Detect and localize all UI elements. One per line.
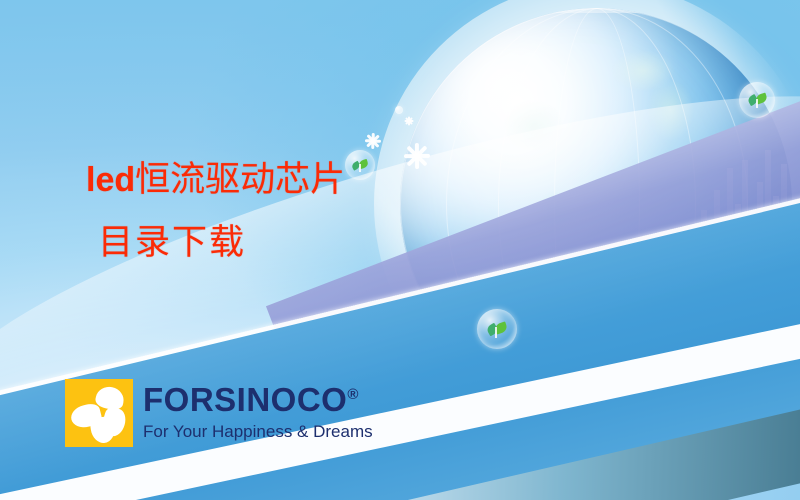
headline-line-2: 目录下载 [98,223,345,264]
bubble-icon [477,309,517,349]
bubble-icon [395,106,403,114]
flower-sparkle-icon [405,117,414,126]
sprout-stem [359,164,361,172]
company-logo: FORSINOCO® For Your Happiness & Dreams [65,379,373,447]
headline-latin: led [86,161,135,199]
registered-trademark-icon: ® [347,386,358,403]
headline-line-1: led恒流驱动芯片 [86,160,345,201]
sprout-stem [756,99,758,108]
petal-4 [89,415,116,444]
sprout-stem [495,327,497,337]
promo-banner: led恒流驱动芯片 目录下载 FORSINOCO® For Your Happi… [0,0,800,500]
flower-sparkle-icon [404,143,430,169]
bubble-icon [345,150,375,180]
logo-wordmark: FORSINOCO® For Your Happiness & Dreams [143,379,373,440]
headline-cjk: 恒流驱动芯片 [135,160,345,200]
bubble-icon [739,82,775,118]
flower-sparkle-icon [365,133,381,149]
brand-name: FORSINOCO® [143,383,373,416]
brand-name-text: FORSINOCO [143,381,347,418]
four-petal-pinwheel-icon [65,379,133,447]
headline-text: led恒流驱动芯片 目录下载 [86,160,345,265]
brand-tagline: For Your Happiness & Dreams [143,423,373,440]
